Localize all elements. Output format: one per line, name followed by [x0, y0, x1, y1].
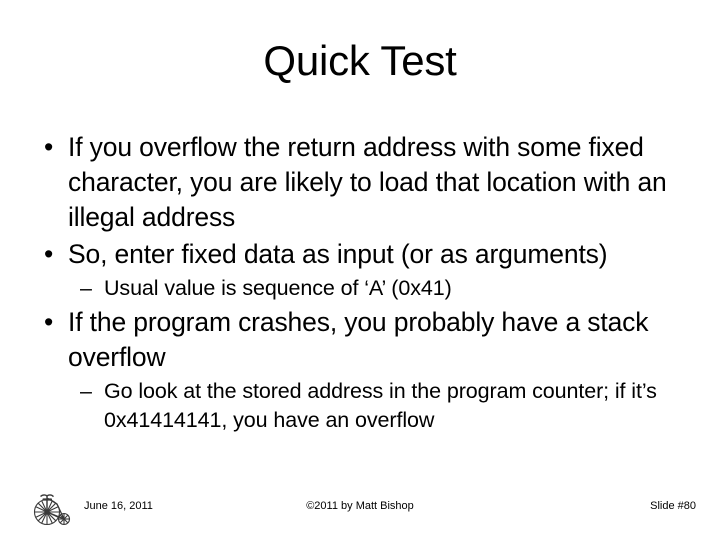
footer-slide-number: Slide #80 — [650, 500, 696, 512]
list-item: • If you overflow the return address wit… — [40, 130, 690, 235]
slide-body: • If you overflow the return address wit… — [40, 130, 690, 437]
list-item-text: So, enter fixed data as input (or as arg… — [68, 239, 607, 269]
slide-footer: June 16, 2011 ©2011 by Matt Bishop Slide… — [0, 480, 720, 540]
list-item: • So, enter fixed data as input (or as a… — [40, 237, 690, 303]
page-title: Quick Test — [0, 38, 720, 84]
list-item-text: If you overflow the return address with … — [68, 132, 667, 232]
bullet-marker-icon: • — [44, 130, 53, 165]
sub-bullet-list: – Usual value is sequence of ‘A’ (0x41) — [68, 274, 690, 303]
sub-list-item-text: Usual value is sequence of ‘A’ (0x41) — [104, 276, 452, 300]
dash-marker-icon: – — [80, 274, 92, 303]
sub-bullet-list: – Go look at the stored address in the p… — [68, 377, 690, 435]
bullet-marker-icon: • — [44, 305, 53, 340]
sub-list-item: – Go look at the stored address in the p… — [80, 377, 690, 435]
slide-canvas: Quick Test • If you overflow the return … — [0, 0, 720, 540]
bullet-marker-icon: • — [44, 237, 53, 272]
bullet-list: • If you overflow the return address wit… — [40, 130, 690, 435]
list-item-text: If the program crashes, you probably hav… — [68, 307, 648, 372]
dash-marker-icon: – — [80, 377, 92, 406]
sub-list-item-text: Go look at the stored address in the pro… — [104, 379, 657, 432]
list-item: • If the program crashes, you probably h… — [40, 305, 690, 435]
sub-list-item: – Usual value is sequence of ‘A’ (0x41) — [80, 274, 690, 303]
footer-copyright: ©2011 by Matt Bishop — [0, 500, 720, 512]
